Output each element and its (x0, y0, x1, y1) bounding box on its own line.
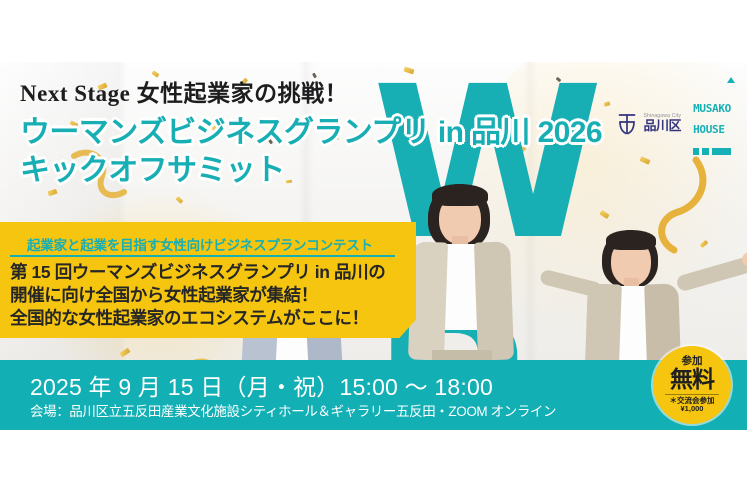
shinagawa-city-logo: Shinagawa City 品川区 (615, 113, 682, 135)
badge-note-price: ¥1,000 (681, 405, 704, 414)
badge-divider (665, 394, 719, 395)
badge-label-main: 無料 (670, 368, 714, 391)
musako-logo-line1: MUSAKO (693, 104, 731, 115)
shinagawa-crest-icon (615, 113, 639, 135)
logo-group: Shinagawa City 品川区 MUSAKO HOUSE (615, 82, 731, 165)
footer-band: 2025 年 9 月 15 日（月・祝）15:00 〜 18:00 会場：品川区… (0, 360, 747, 430)
musako-base-icon (693, 148, 731, 155)
divider-rule (10, 255, 395, 257)
shinagawa-logo-jp: 品川区 (644, 119, 682, 133)
hair-front (606, 230, 656, 250)
shinagawa-logo-text: Shinagawa City 品川区 (644, 114, 682, 133)
jacket-right (474, 241, 514, 360)
free-admission-badge: 参加 無料 ＊交流会参加 ¥1,000 (653, 346, 731, 424)
event-banner: W B G (0, 62, 747, 430)
arm (675, 256, 747, 293)
banner-canvas: W B G (0, 0, 747, 498)
musako-logo-line2: HOUSE (693, 125, 731, 136)
contest-subtitle: 起業家と起業を目指す女性向けビジネスプランコンテスト (27, 234, 373, 254)
yellow-message-band: 起業家と起業を目指す女性向けビジネスプランコンテスト 第 15 回ウーマンズビジ… (0, 222, 416, 338)
musako-house-logo: MUSAKO HOUSE (693, 82, 731, 165)
musako-roof-icon (727, 77, 735, 83)
event-venue: 会場：品川区立五反田産業文化施設シティホール＆ギャラリー五反田・ZOOM オンラ… (30, 400, 556, 420)
contest-description: 第 15 回ウーマンズビジネスグランプリ in 品川の 開催に向け全国から女性起… (10, 261, 410, 329)
event-date: 2025 年 9 月 15 日（月・祝）15:00 〜 18:00 (30, 368, 493, 402)
